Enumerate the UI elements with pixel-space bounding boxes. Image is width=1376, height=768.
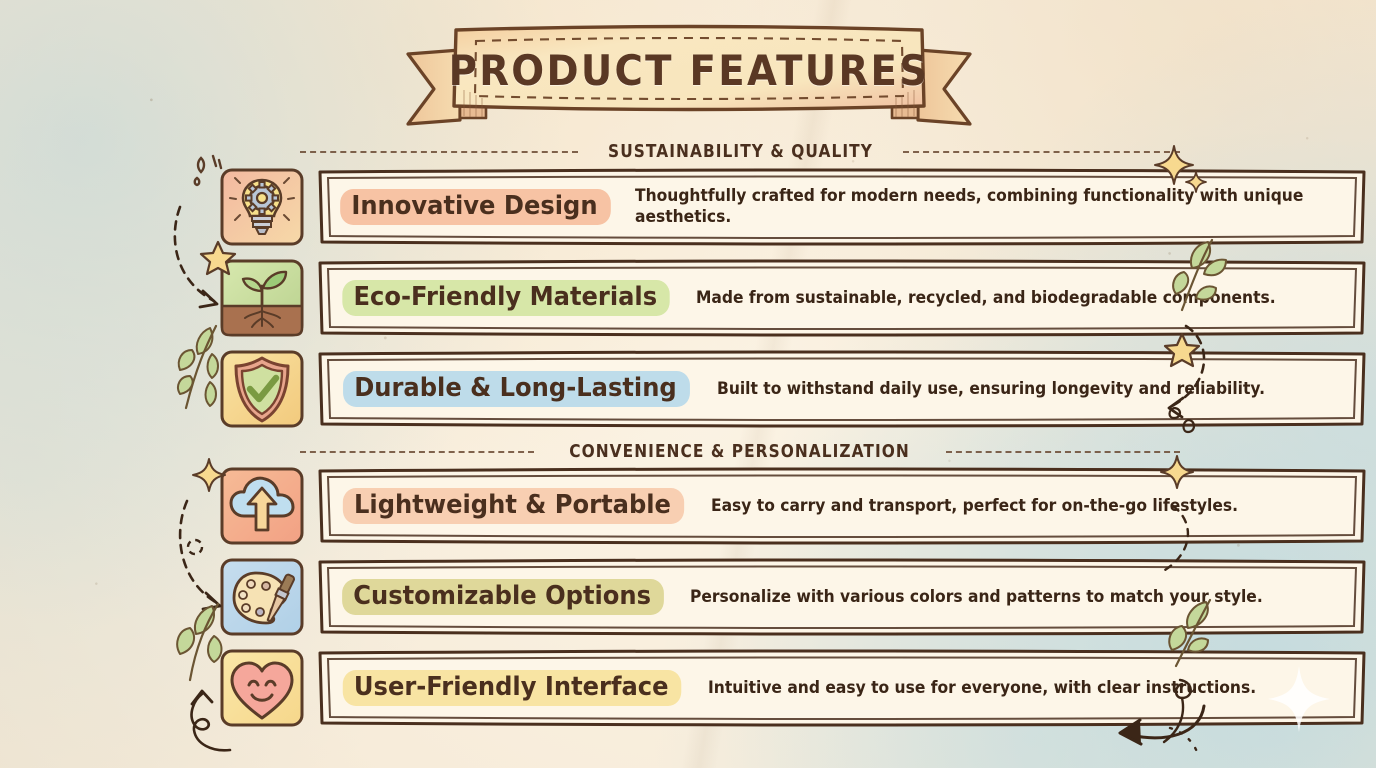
feature-icon-tile: [218, 466, 306, 546]
feature-description: Personalize with various colors and patt…: [690, 587, 1310, 608]
feature-icon-tile: [218, 167, 306, 247]
feature-card[interactable]: Lightweight & Portable Easy to carry and…: [316, 466, 1368, 546]
feature-icon-tile: [218, 349, 306, 429]
page-title: PRODUCT FEATURES: [423, 14, 955, 126]
section-label: CONVENIENCE & PERSONALIZATION: [570, 442, 911, 462]
feature-icon-tile: [218, 557, 306, 637]
feature-description: Built to withstand daily use, ensuring l…: [717, 379, 1312, 400]
title-banner: PRODUCT FEATURES: [400, 14, 978, 126]
palette-brush-icon: [218, 557, 306, 637]
lightbulb-gear-icon: [218, 167, 306, 247]
feature-title: User-Friendly Interface: [343, 670, 682, 706]
section-header-1: SUSTAINABILITY & QUALITY: [300, 140, 1180, 164]
seedling-icon: [218, 258, 306, 338]
dashed-rule-left: [300, 151, 578, 153]
dashed-rule-right: [903, 151, 1181, 153]
feature-title: Customizable Options: [342, 579, 664, 615]
feature-title: Durable & Long-Lasting: [343, 371, 690, 407]
feature-title: Eco-Friendly Materials: [342, 280, 670, 316]
dashed-rule-right: [946, 451, 1180, 453]
infographic-poster: PRODUCT FEATURES SUSTAINABILITY & QUALIT…: [0, 0, 1376, 768]
shield-check-icon: [218, 349, 306, 429]
section-header-2: CONVENIENCE & PERSONALIZATION: [300, 440, 1180, 464]
heart-smile-icon: [218, 648, 306, 728]
feature-card[interactable]: Innovative Design Thoughtfully crafted f…: [316, 167, 1368, 247]
feature-icon-tile: [218, 648, 306, 728]
feature-title: Lightweight & Portable: [343, 488, 684, 524]
feature-description: Easy to carry and transport, perfect for…: [711, 496, 1312, 517]
feature-card[interactable]: Durable & Long-Lasting Built to withstan…: [316, 349, 1368, 429]
feature-card[interactable]: Eco-Friendly Materials Made from sustain…: [316, 258, 1368, 338]
feature-title: Innovative Design: [340, 189, 610, 225]
dashed-rule-left: [300, 451, 534, 453]
feature-card[interactable]: User-Friendly Interface Intuitive and ea…: [316, 648, 1368, 728]
feature-icon-tile: [218, 258, 306, 338]
feature-description: Thoughtfully crafted for modern needs, c…: [635, 186, 1307, 227]
cloud-upload-icon: [218, 466, 306, 546]
feature-description: Intuitive and easy to use for everyone, …: [708, 678, 1311, 699]
feature-description: Made from sustainable, recycled, and bio…: [696, 288, 1310, 309]
section-label: SUSTAINABILITY & QUALITY: [608, 142, 873, 162]
feature-card[interactable]: Customizable Options Personalize with va…: [316, 557, 1368, 637]
